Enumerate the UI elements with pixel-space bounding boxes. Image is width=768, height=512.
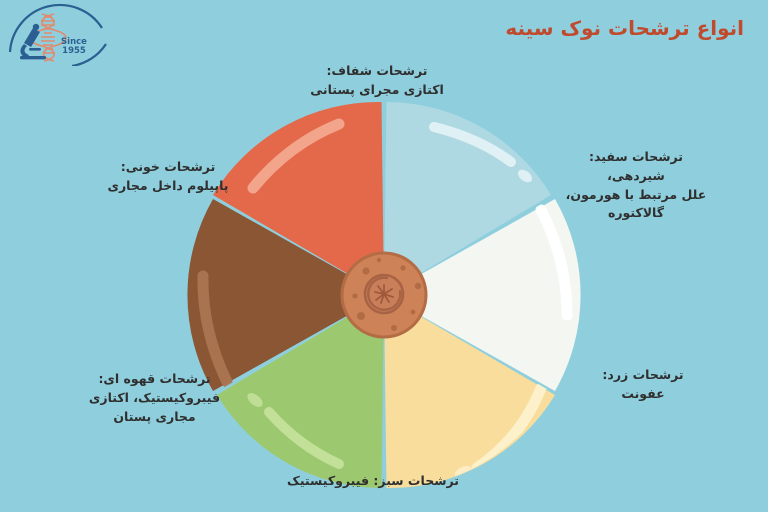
nipple-areola-icon bbox=[342, 253, 426, 337]
page-title: انواع ترشحات نوک سینه bbox=[505, 16, 744, 40]
label-brown-discharge: ترشحات قهوه ای: فیبروکیستیک، اکتازی مجار… bbox=[62, 370, 247, 426]
label-bloody-discharge: ترشحات خونی: پاپیلوم داخل مجاری bbox=[78, 158, 258, 196]
armin-pathobiology-lab-logo: Armin Pathobiology Lab Since 1955 bbox=[2, 0, 122, 66]
label-yellow-discharge: ترشحات زرد: عفونت bbox=[548, 366, 738, 404]
label-white-discharge: ترشحات سفید: شیردهی، علل مرتبط با هورمون… bbox=[536, 148, 736, 223]
infographic-canvas: Armin Pathobiology Lab Since 1955 انواع … bbox=[0, 0, 768, 512]
label-clear-discharge: ترشحات شفاف: اکتازی مجرای پستانی bbox=[292, 62, 462, 100]
svg-text:Armin Pathobiology Lab: Armin Pathobiology Lab bbox=[2, 0, 7, 3]
logo-arc-text: Armin Pathobiology Lab bbox=[2, 0, 7, 3]
label-green-discharge: ترشحات سبز: فیبروکیستیک bbox=[258, 472, 488, 491]
logo-since-line2: 1955 bbox=[62, 46, 86, 56]
